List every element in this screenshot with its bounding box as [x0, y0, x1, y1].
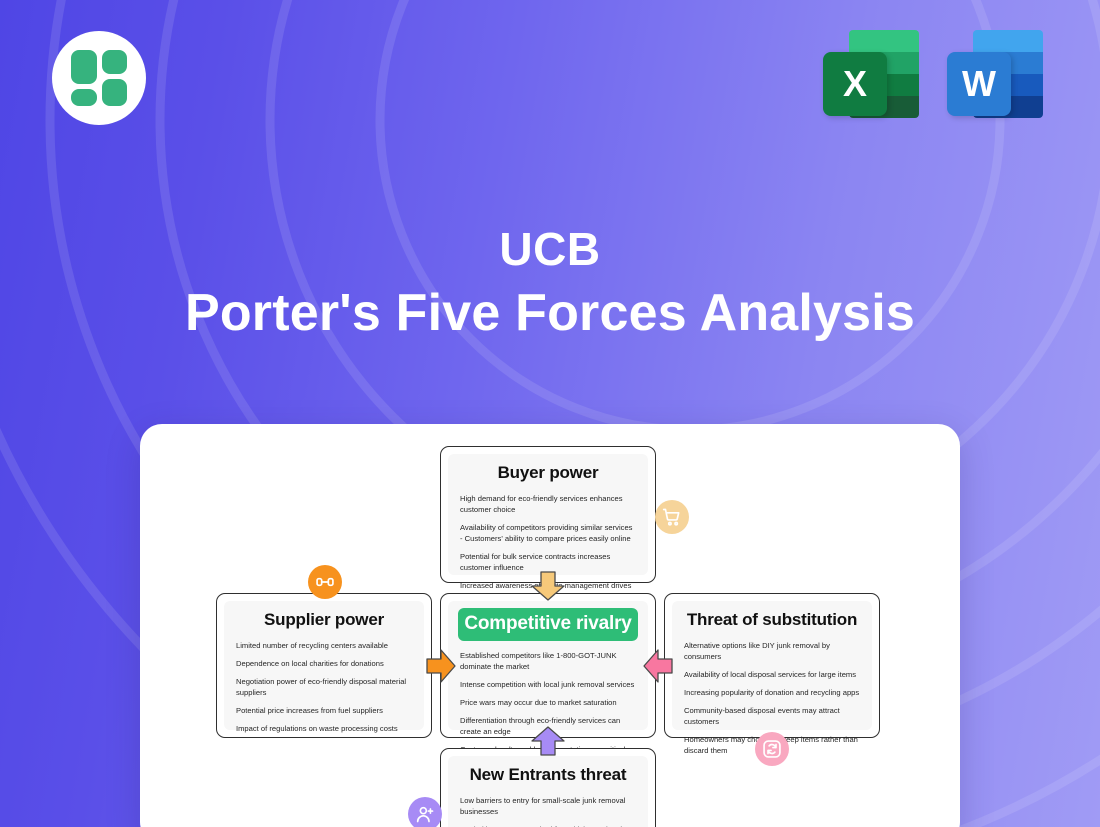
excel-icon[interactable]: X	[823, 30, 919, 118]
list-item: Increasing popularity of donation and re…	[684, 687, 860, 698]
list-item: Limited number of recycling centers avai…	[236, 640, 412, 651]
excel-icon-letter: X	[823, 52, 887, 116]
force-title-buyer: Buyer power	[460, 463, 636, 483]
org-name: UCB	[0, 222, 1100, 276]
force-points-supplier: Limited number of recycling centers avai…	[236, 640, 412, 734]
list-item: Intense competition with local junk remo…	[460, 679, 636, 690]
force-box-threat-of-substitution[interactable]: Threat of substitution Alternative optio…	[664, 593, 880, 738]
add-user-icon	[408, 797, 442, 827]
export-icons: X W	[823, 30, 1043, 118]
list-item: Community-based disposal events may attr…	[684, 705, 860, 727]
arrow-buyer-to-rivalry-down	[530, 571, 566, 601]
page-title: UCB Porter's Five Forces Analysis	[0, 222, 1100, 345]
force-title-new-entrants-threat: New Entrants threat	[460, 765, 636, 785]
list-item: Availability of local disposal services …	[684, 669, 860, 680]
list-item: Impact of regulations on waste processin…	[236, 723, 412, 734]
list-item: Established competitors like 1-800-GOT-J…	[460, 650, 636, 672]
force-box-competitive-rivalry[interactable]: Competitive rivalry Established competit…	[440, 593, 656, 738]
list-item: Alternative options like DIY junk remova…	[684, 640, 860, 662]
force-box-new-entrants-threat[interactable]: New Entrants threat Low barriers to entr…	[440, 748, 656, 827]
force-title-competitive-rivalry: Competitive rivalry	[458, 608, 638, 641]
arrow-entrants-to-rivalry-up	[530, 726, 566, 756]
word-icon[interactable]: W	[947, 30, 1043, 118]
force-box-supplier[interactable]: Supplier power Limited number of recycli…	[216, 593, 432, 738]
title-text: Porter's Five Forces Analysis	[0, 282, 1100, 344]
force-title-threat-of-substitution: Threat of substitution	[684, 610, 860, 630]
grid-squares-logo-icon	[71, 50, 127, 106]
list-item: Price wars may occur due to market satur…	[460, 697, 636, 708]
list-item: Dependence on local charities for donati…	[236, 658, 412, 669]
shopping-cart-icon	[655, 500, 689, 534]
list-item: Potential price increases from fuel supp…	[236, 705, 412, 716]
refresh-sync-icon	[755, 732, 789, 766]
word-icon-letter: W	[947, 52, 1011, 116]
list-item: Low barriers to entry for small-scale ju…	[460, 795, 636, 817]
list-item: Potential for bulk service contracts inc…	[460, 551, 636, 573]
force-points-new-entrants-threat: Low barriers to entry for small-scale ju…	[460, 795, 636, 827]
list-item: Negotiation power of eco-friendly dispos…	[236, 676, 412, 698]
arrow-supplier-to-rivalry-right	[426, 648, 456, 684]
force-title-supplier: Supplier power	[236, 610, 412, 630]
list-item: Availability of competitors providing si…	[460, 522, 636, 544]
slide-canvas: X W UCB Porter's Five Forces Analysis Bu…	[0, 0, 1100, 827]
list-item: High demand for eco-friendly services en…	[460, 493, 636, 515]
arrow-substitution-to-rivalry-left	[643, 648, 673, 684]
brand-logo	[52, 31, 146, 125]
force-box-buyer[interactable]: Buyer power High demand for eco-friendly…	[440, 446, 656, 583]
link-chain-icon	[308, 565, 342, 599]
